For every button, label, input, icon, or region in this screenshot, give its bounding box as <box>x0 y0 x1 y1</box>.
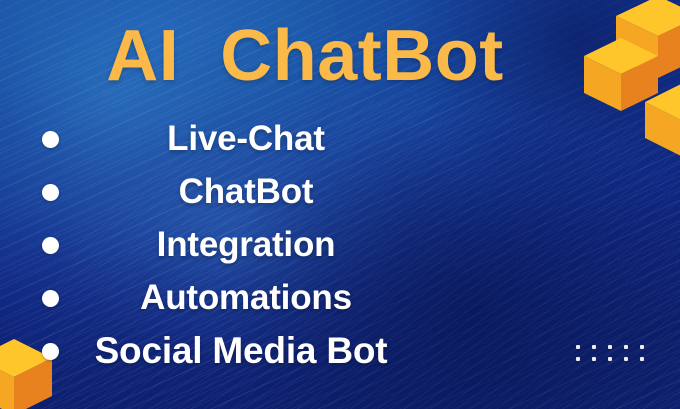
list-item: ChatBot <box>0 165 440 218</box>
filled-circle-bullet-icon <box>42 290 59 307</box>
filled-circle-bullet-icon <box>42 131 59 148</box>
dot-grid-dot <box>640 357 644 361</box>
dot-grid-dot <box>592 345 596 349</box>
list-item: Live-Chat <box>0 112 440 165</box>
service-list: Live-Chat ChatBot Integration Automation… <box>0 112 440 377</box>
dot-grid-dot <box>608 357 612 361</box>
service-label-automations: Automations <box>0 278 440 318</box>
dot-grid-dot <box>608 345 612 349</box>
service-label-live-chat: Live-Chat <box>0 119 440 159</box>
filled-circle-bullet-icon <box>42 184 59 201</box>
filled-circle-bullet-icon <box>42 237 59 254</box>
service-label-integration: Integration <box>0 225 440 265</box>
service-label-social-media-bot: Social Media Bot <box>0 330 440 372</box>
dot-grid-dot <box>576 345 580 349</box>
dot-grid-dot <box>592 357 596 361</box>
dot-grid-dot <box>576 357 580 361</box>
list-item: Integration <box>0 218 440 271</box>
filled-circle-bullet-icon <box>42 343 59 360</box>
ai-chatbot-banner: AI ChatBot Live-Chat ChatBot Integration… <box>0 0 680 409</box>
dot-grid-icon <box>576 345 656 369</box>
list-item: Automations <box>0 271 440 324</box>
dot-grid-dot <box>624 345 628 349</box>
page-title: AI ChatBot <box>0 15 680 97</box>
service-label-chatbot: ChatBot <box>0 172 440 212</box>
dot-grid-dot <box>640 345 644 349</box>
list-item: Social Media Bot <box>0 324 440 377</box>
dot-grid-dot <box>624 357 628 361</box>
